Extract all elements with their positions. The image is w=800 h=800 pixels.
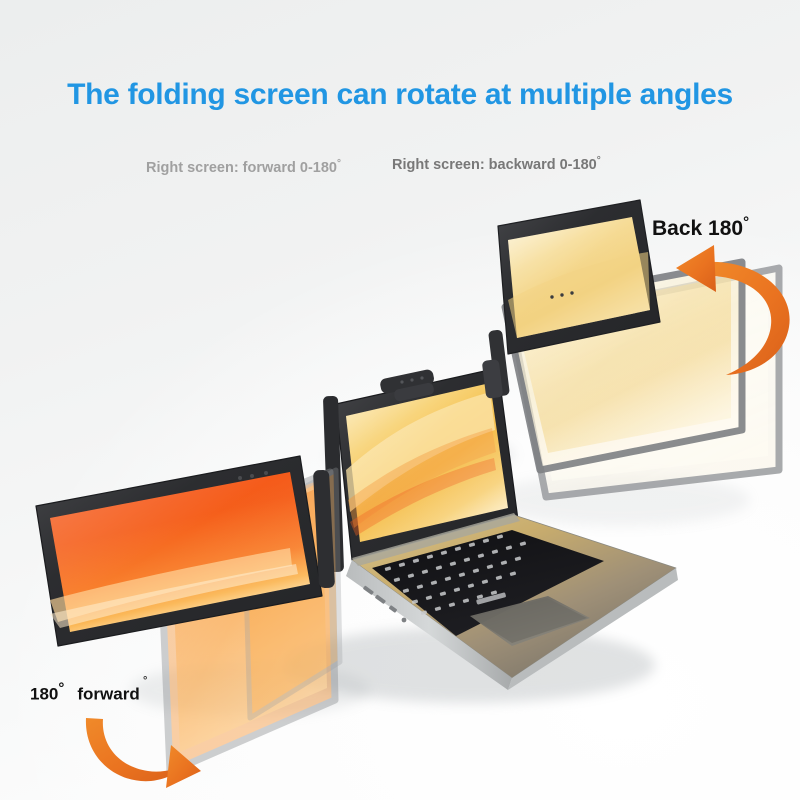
ground-shadows [130, 433, 750, 716]
label-back-180: Back 180° [652, 214, 749, 241]
right-screen-ghost-mid [505, 262, 742, 470]
label-forward-180-value: 180 [30, 685, 58, 704]
product-illustration: The folding screen can rotate at multipl… [0, 0, 800, 800]
rotate-forward-arrow [86, 718, 201, 788]
laptop-main-screen [336, 368, 518, 560]
label-forward-text: Right screen: forward 0-180 [146, 160, 337, 176]
laptop-ports [363, 585, 407, 622]
left-screen-ghost-2 [244, 470, 340, 718]
label-forward-180-word: forward [77, 685, 139, 704]
label-back-180-text: Back 180 [652, 217, 743, 240]
label-forward-degree: ° [337, 158, 341, 169]
page-title: The folding screen can rotate at multipl… [0, 78, 800, 112]
left-screen-ghost [160, 472, 335, 772]
left-screen-solid [36, 456, 335, 646]
right-screen-ghost-flat [512, 268, 779, 497]
hinge-assembly [323, 329, 510, 572]
label-backward-text: Right screen: backward 0-180 [392, 157, 597, 173]
label-forward-180: 180°forward° [30, 680, 140, 705]
label-backward-range: Right screen: backward 0-180° [392, 155, 601, 173]
laptop-base [346, 513, 678, 690]
label-forward-range: Right screen: forward 0-180° [146, 158, 341, 176]
label-back-180-degree: ° [743, 214, 749, 231]
right-screen-solid [498, 200, 660, 354]
label-backward-degree: ° [597, 155, 601, 166]
label-forward-180-trailing-degree: ° [143, 675, 147, 687]
rotate-backward-arrow [676, 245, 790, 375]
label-forward-180-degree: ° [58, 680, 64, 697]
